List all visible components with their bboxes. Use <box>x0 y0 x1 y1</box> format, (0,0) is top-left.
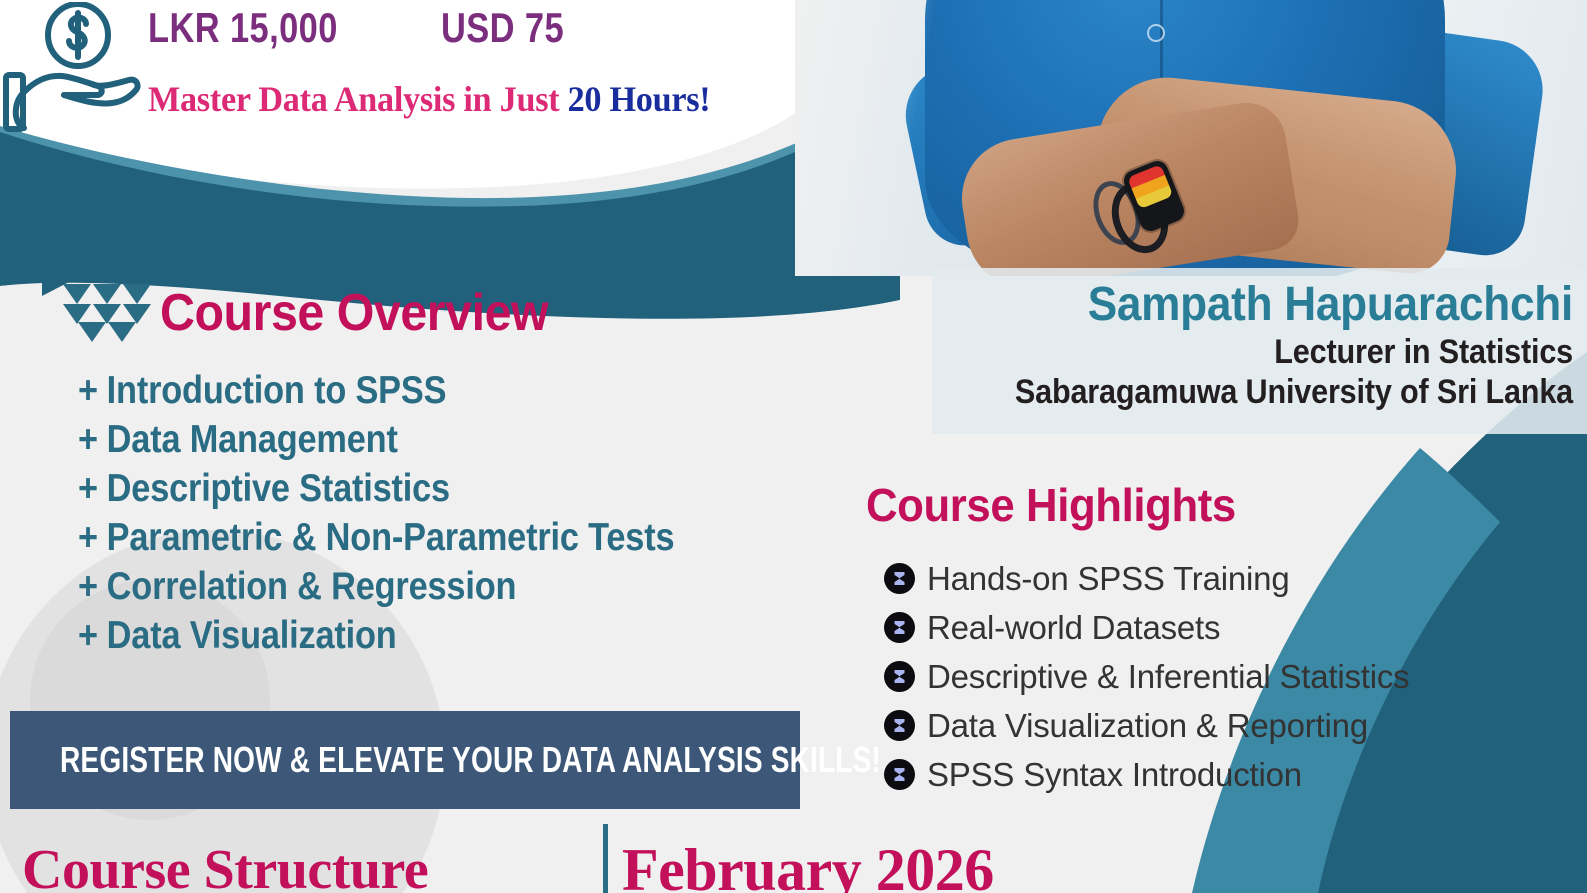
highlight-item: Data Visualization & Reporting <box>884 701 1566 750</box>
hand-holding-dollar-icon <box>2 2 147 132</box>
photo-shirt-button <box>1147 24 1165 42</box>
course-highlights-section: Course Highlights Hands-on SPSS Training… <box>866 478 1566 799</box>
overview-item: +Data Visualization <box>78 611 759 660</box>
highlight-item-label: SPSS Syntax Introduction <box>927 750 1302 799</box>
plus-icon: + <box>78 565 98 608</box>
plus-icon: + <box>78 369 98 412</box>
tagline-pink-text: Master Data Analysis in Just <box>148 79 568 119</box>
overview-item: +Data Management <box>78 415 759 464</box>
instructor-organization: Sabaragamuwa University of Sri Lanka <box>996 372 1573 412</box>
register-button-label: REGISTER NOW & ELEVATE YOUR DATA ANALYSI… <box>60 739 881 781</box>
course-overview-list: +Introduction to SPSS +Data Management +… <box>78 366 852 660</box>
instructor-name: Sampath Hapuarachchi <box>983 278 1573 332</box>
overview-item: +Correlation & Regression <box>78 562 759 611</box>
overview-item-label: Data Management <box>107 418 398 461</box>
plus-icon: + <box>78 516 98 559</box>
highlight-item-label: Descriptive & Inferential Statistics <box>927 652 1409 701</box>
course-highlights-title: Course Highlights <box>866 478 1531 532</box>
course-date-title: February 2026 <box>622 836 994 893</box>
overview-item-label: Descriptive Statistics <box>107 467 450 510</box>
tagline-navy-text: 20 Hours! <box>568 79 711 119</box>
triangle-grid-icon <box>62 282 152 344</box>
overview-item-label: Correlation & Regression <box>107 565 517 608</box>
sigma-badge-icon <box>884 759 915 790</box>
instructor-role: Lecturer in Statistics <box>996 332 1573 372</box>
highlight-item-label: Data Visualization & Reporting <box>927 701 1368 750</box>
price-usd: USD 75 <box>441 4 564 52</box>
highlight-item: SPSS Syntax Introduction <box>884 750 1566 799</box>
plus-icon: + <box>78 418 98 461</box>
price-lkr: LKR 15,000 <box>148 4 338 52</box>
plus-icon: + <box>78 467 98 510</box>
sigma-badge-icon <box>884 661 915 692</box>
highlight-item-label: Hands-on SPSS Training <box>927 554 1289 603</box>
overview-item: +Parametric & Non-Parametric Tests <box>78 513 759 562</box>
highlight-item: Hands-on SPSS Training <box>884 554 1566 603</box>
overview-item-label: Introduction to SPSS <box>107 369 447 412</box>
course-overview-section: Course Overview +Introduction to SPSS +D… <box>62 282 852 660</box>
photo-watch-face <box>1127 164 1173 209</box>
overview-item: +Introduction to SPSS <box>78 366 759 415</box>
instructor-panel: Sampath Hapuarachchi Lecturer in Statist… <box>932 268 1587 434</box>
bottom-divider <box>603 824 608 893</box>
register-button[interactable]: REGISTER NOW & ELEVATE YOUR DATA ANALYSI… <box>10 711 800 809</box>
overview-item-label: Parametric & Non-Parametric Tests <box>107 516 675 559</box>
sigma-badge-icon <box>884 563 915 594</box>
overview-item: +Descriptive Statistics <box>78 464 759 513</box>
overview-item-label: Data Visualization <box>107 614 397 657</box>
sigma-badge-icon <box>884 612 915 643</box>
sigma-badge-icon <box>884 710 915 741</box>
highlight-item: Real-world Datasets <box>884 603 1566 652</box>
instructor-photo <box>795 0 1587 276</box>
course-highlights-list: Hands-on SPSS Training Real-world Datase… <box>884 554 1566 799</box>
course-structure-title: Course Structure <box>22 838 428 893</box>
course-overview-header: Course Overview <box>62 282 852 344</box>
highlight-item-label: Real-world Datasets <box>927 603 1220 652</box>
price-row: LKR 15,000 USD 75 <box>148 4 592 52</box>
highlight-item: Descriptive & Inferential Statistics <box>884 652 1566 701</box>
poster-canvas: LKR 15,000 USD 75 Master Data Analysis i… <box>0 0 1587 893</box>
tagline: Master Data Analysis in Just 20 Hours! <box>148 78 710 120</box>
course-overview-title: Course Overview <box>160 283 548 343</box>
plus-icon: + <box>78 614 98 657</box>
